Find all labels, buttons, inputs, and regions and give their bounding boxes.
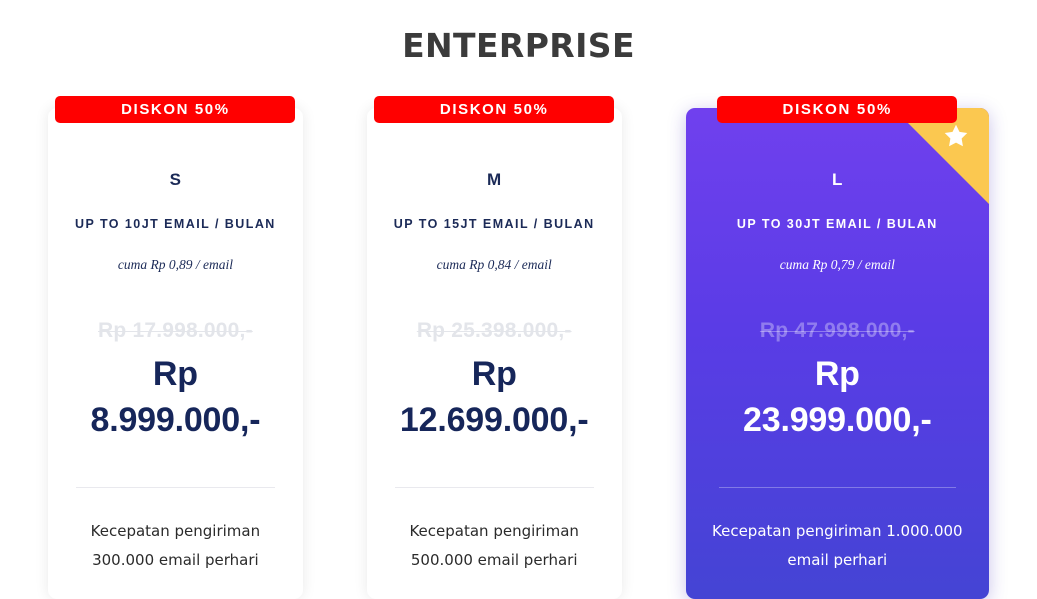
plan-price-amount: 23.999.000,-	[686, 398, 989, 444]
plan-quota-label: UP TO 30JT EMAIL / BULAN	[686, 217, 989, 231]
plan-price-amount: 8.999.000,-	[48, 398, 303, 444]
pricing-cards-row: DISKON 50% S UP TO 10JT EMAIL / BULAN cu…	[0, 108, 1037, 599]
plan-price-currency: Rp	[686, 352, 989, 398]
card-divider	[719, 487, 956, 488]
plan-price: Rp 8.999.000,-	[48, 352, 303, 443]
discount-badge: DISKON 50%	[717, 96, 957, 123]
plan-tier-label: M	[367, 170, 622, 190]
plan-old-price: Rp 47.998.000,-	[686, 319, 989, 343]
pricing-page: ENTERPRISE DISKON 50% S UP TO 10JT EMAIL…	[0, 0, 1037, 599]
plan-tier-label: L	[686, 170, 989, 190]
plan-old-price: Rp 17.998.000,-	[48, 319, 303, 343]
plan-feature-text: Kecepatan pengiriman 500.000 email perha…	[367, 517, 622, 575]
card-divider	[76, 487, 275, 488]
plan-price-amount: 12.699.000,-	[367, 398, 622, 444]
plan-price-currency: Rp	[367, 352, 622, 398]
plan-unit-price: cuma Rp 0,79 / email	[686, 257, 989, 273]
plan-quota-label: UP TO 10JT EMAIL / BULAN	[48, 217, 303, 231]
plan-quota-label: UP TO 15JT EMAIL / BULAN	[367, 217, 622, 231]
plan-price-currency: Rp	[48, 352, 303, 398]
plan-price: Rp 23.999.000,-	[686, 352, 989, 443]
plan-old-price: Rp 25.398.000,-	[367, 319, 622, 343]
discount-badge: DISKON 50%	[374, 96, 614, 123]
plan-unit-price: cuma Rp 0,84 / email	[367, 257, 622, 273]
plan-tier-label: S	[48, 170, 303, 190]
plan-feature-text: Kecepatan pengiriman 300.000 email perha…	[48, 517, 303, 575]
pricing-card-m[interactable]: DISKON 50% M UP TO 15JT EMAIL / BULAN cu…	[367, 108, 622, 599]
plan-unit-price: cuma Rp 0,89 / email	[48, 257, 303, 273]
discount-badge: DISKON 50%	[55, 96, 295, 123]
card-divider	[395, 487, 594, 488]
page-title: ENTERPRISE	[0, 26, 1037, 65]
star-icon	[943, 123, 969, 149]
plan-price: Rp 12.699.000,-	[367, 352, 622, 443]
plan-feature-text: Kecepatan pengiriman 1.000.000 email per…	[686, 517, 989, 575]
pricing-card-l[interactable]: DISKON 50% L UP TO 30JT EMAIL / BULAN cu…	[686, 108, 989, 599]
pricing-card-s[interactable]: DISKON 50% S UP TO 10JT EMAIL / BULAN cu…	[48, 108, 303, 599]
